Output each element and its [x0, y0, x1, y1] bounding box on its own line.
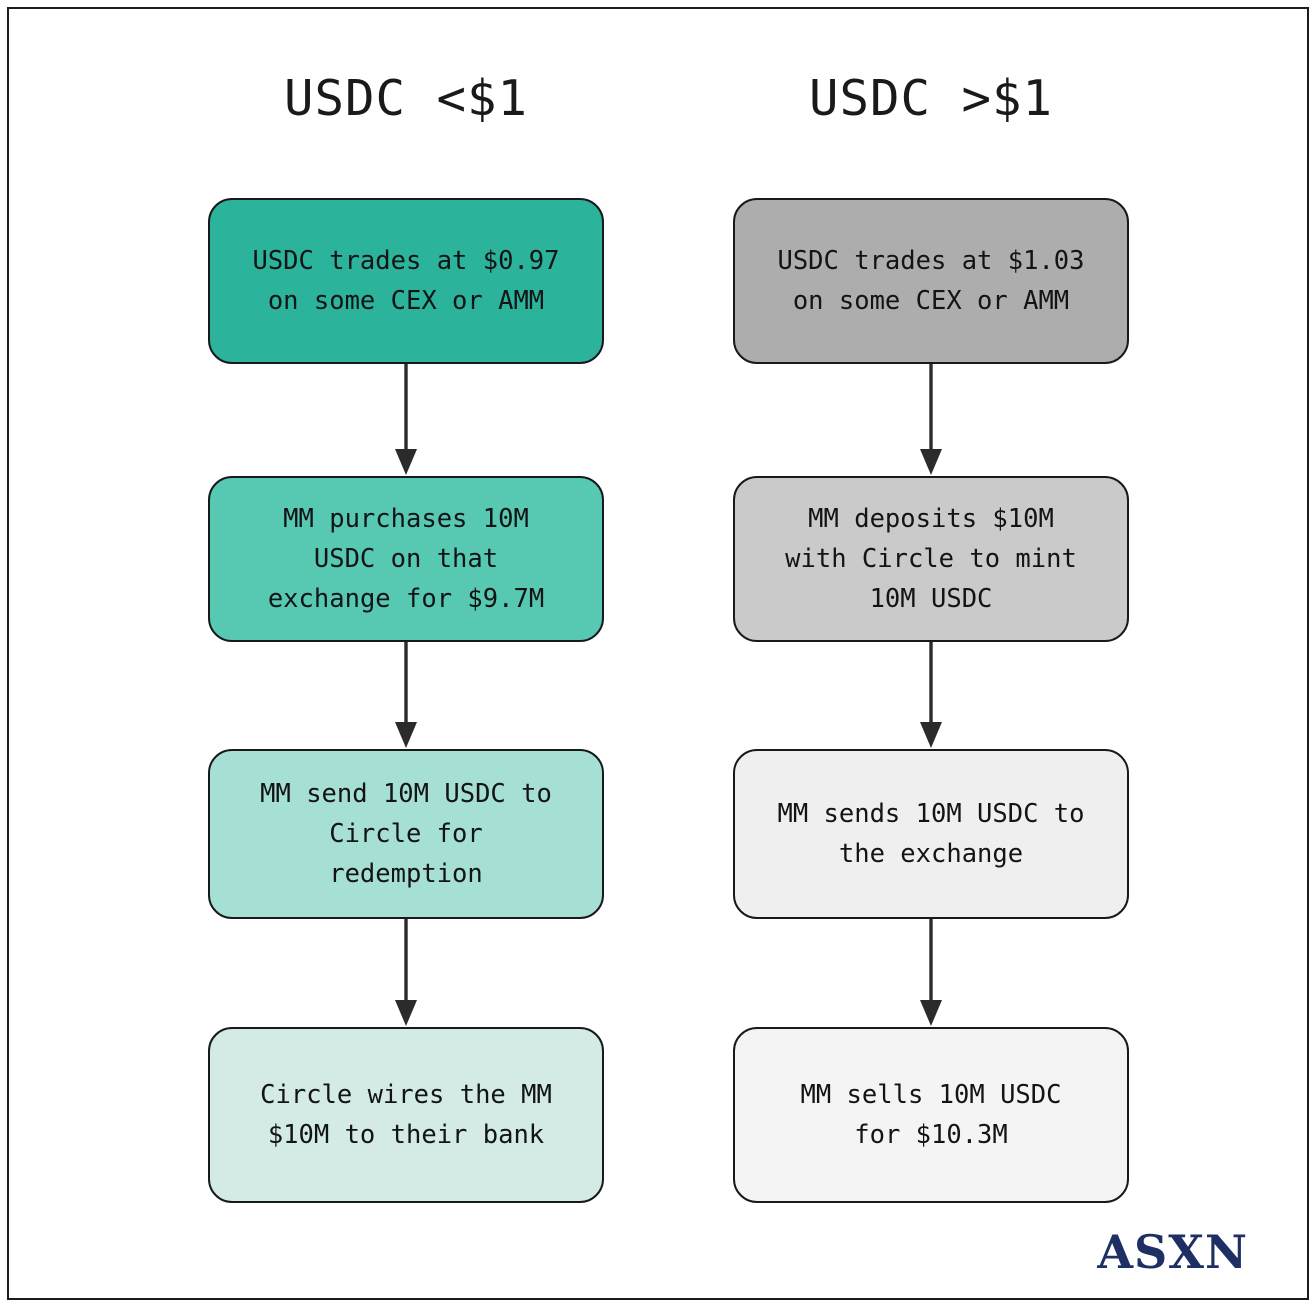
down-arrow-icon [918, 642, 944, 749]
flow-node-left-2: MM purchases 10M USDC on that exchange f… [208, 476, 604, 642]
asxn-logo: ASXN [1097, 1225, 1248, 1279]
down-arrow-icon [393, 364, 419, 476]
down-arrow-icon [918, 919, 944, 1027]
down-arrow-icon [393, 919, 419, 1027]
diagram-canvas: USDC <$1 USDC >$1 USDC trades at $0.97 o… [0, 0, 1316, 1307]
down-arrow-icon [918, 364, 944, 476]
flow-node-right-4: MM sells 10M USDC for $10.3M [733, 1027, 1129, 1203]
flow-node-left-4: Circle wires the MM $10M to their bank [208, 1027, 604, 1203]
column-header-usdc-above-peg: USDC >$1 [733, 66, 1129, 132]
down-arrow-icon [393, 642, 419, 749]
flow-node-left-1: USDC trades at $0.97 on some CEX or AMM [208, 198, 604, 364]
flow-node-right-1: USDC trades at $1.03 on some CEX or AMM [733, 198, 1129, 364]
flow-node-left-3: MM send 10M USDC to Circle for redemptio… [208, 749, 604, 919]
flow-node-right-2: MM deposits $10M with Circle to mint 10M… [733, 476, 1129, 642]
column-header-usdc-below-peg: USDC <$1 [208, 66, 604, 132]
flow-node-right-3: MM sends 10M USDC to the exchange [733, 749, 1129, 919]
